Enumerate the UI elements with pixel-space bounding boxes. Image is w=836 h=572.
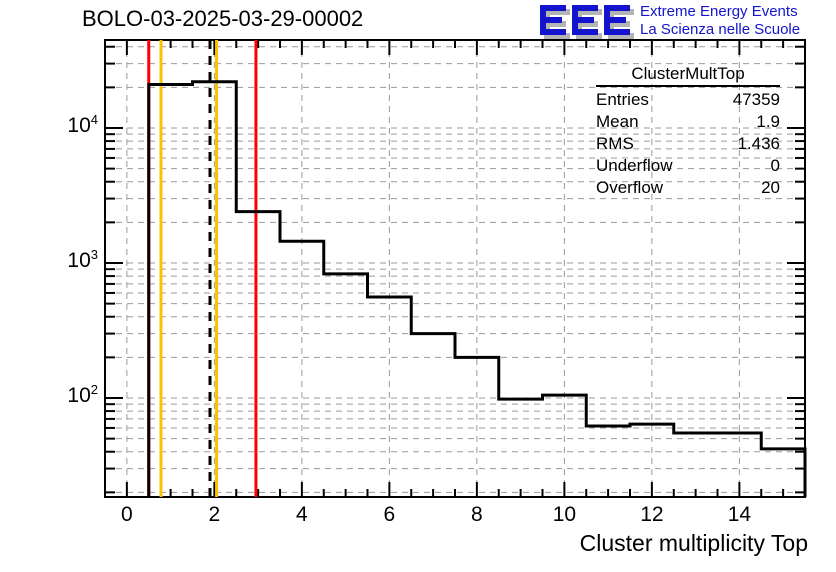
- eee-logo-e-2: [572, 5, 598, 35]
- stats-row-mean: Mean1.9: [588, 111, 788, 133]
- stats-title: ClusterMultTop: [596, 64, 780, 87]
- y-tick-exponent: 4: [91, 112, 98, 127]
- y-tick-label-1e3: 103: [20, 247, 98, 273]
- stats-row-rms: RMS1.436: [588, 133, 788, 155]
- page-title: BOLO-03-2025-03-29-00002: [82, 6, 363, 32]
- eee-logo-line1: Extreme Energy Events: [640, 3, 800, 21]
- y-tick-mantissa: 10: [67, 114, 90, 137]
- y-tick-exponent: 2: [91, 382, 98, 397]
- stats-value: 20: [761, 177, 780, 199]
- stats-label: Entries: [596, 89, 649, 111]
- x-tick-label-14: 14: [728, 503, 751, 527]
- stats-label: Underflow: [596, 155, 673, 177]
- stats-row-overflow: Overflow20: [588, 177, 788, 199]
- stats-value: 1.436: [737, 133, 780, 155]
- eee-logo-e-1: [540, 5, 566, 35]
- y-tick-mantissa: 10: [67, 249, 90, 272]
- x-tick-label-10: 10: [553, 503, 576, 527]
- stats-row-underflow: Underflow0: [588, 155, 788, 177]
- stats-rows: Entries47359Mean1.9RMS1.436Underflow0Ove…: [588, 89, 788, 199]
- x-axis-title: Cluster multiplicity Top: [580, 530, 808, 557]
- y-tick-label-1e4: 104: [20, 112, 98, 138]
- stats-value: 0: [771, 155, 780, 177]
- stats-value: 47359: [733, 89, 780, 111]
- eee-logo-mark: [540, 5, 636, 37]
- eee-logo-line2: La Scienza nelle Scuole: [640, 21, 800, 39]
- x-tick-label-8: 8: [471, 503, 483, 527]
- x-tick-label-0: 0: [121, 503, 133, 527]
- x-tick-label-4: 4: [296, 503, 308, 527]
- eee-logo-e-3: [604, 5, 630, 35]
- y-tick-mantissa: 10: [67, 384, 90, 407]
- x-tick-label-6: 6: [384, 503, 396, 527]
- stats-label: Overflow: [596, 177, 663, 199]
- y-tick-label-1e2: 102: [20, 382, 98, 408]
- root-canvas: BOLO-03-2025-03-29-00002 Extreme E: [0, 0, 836, 572]
- stats-box: ClusterMultTop Entries47359Mean1.9RMS1.4…: [588, 64, 788, 199]
- stats-row-entries: Entries47359: [588, 89, 788, 111]
- stats-value: 1.9: [756, 111, 780, 133]
- eee-logo: Extreme Energy Events La Scienza nelle S…: [540, 3, 832, 39]
- eee-logo-text: Extreme Energy Events La Scienza nelle S…: [640, 3, 800, 39]
- stats-label: Mean: [596, 111, 639, 133]
- y-tick-exponent: 3: [91, 247, 98, 262]
- x-tick-label-12: 12: [640, 503, 663, 527]
- x-tick-label-2: 2: [209, 503, 221, 527]
- marker-lines: [149, 40, 256, 497]
- stats-label: RMS: [596, 133, 634, 155]
